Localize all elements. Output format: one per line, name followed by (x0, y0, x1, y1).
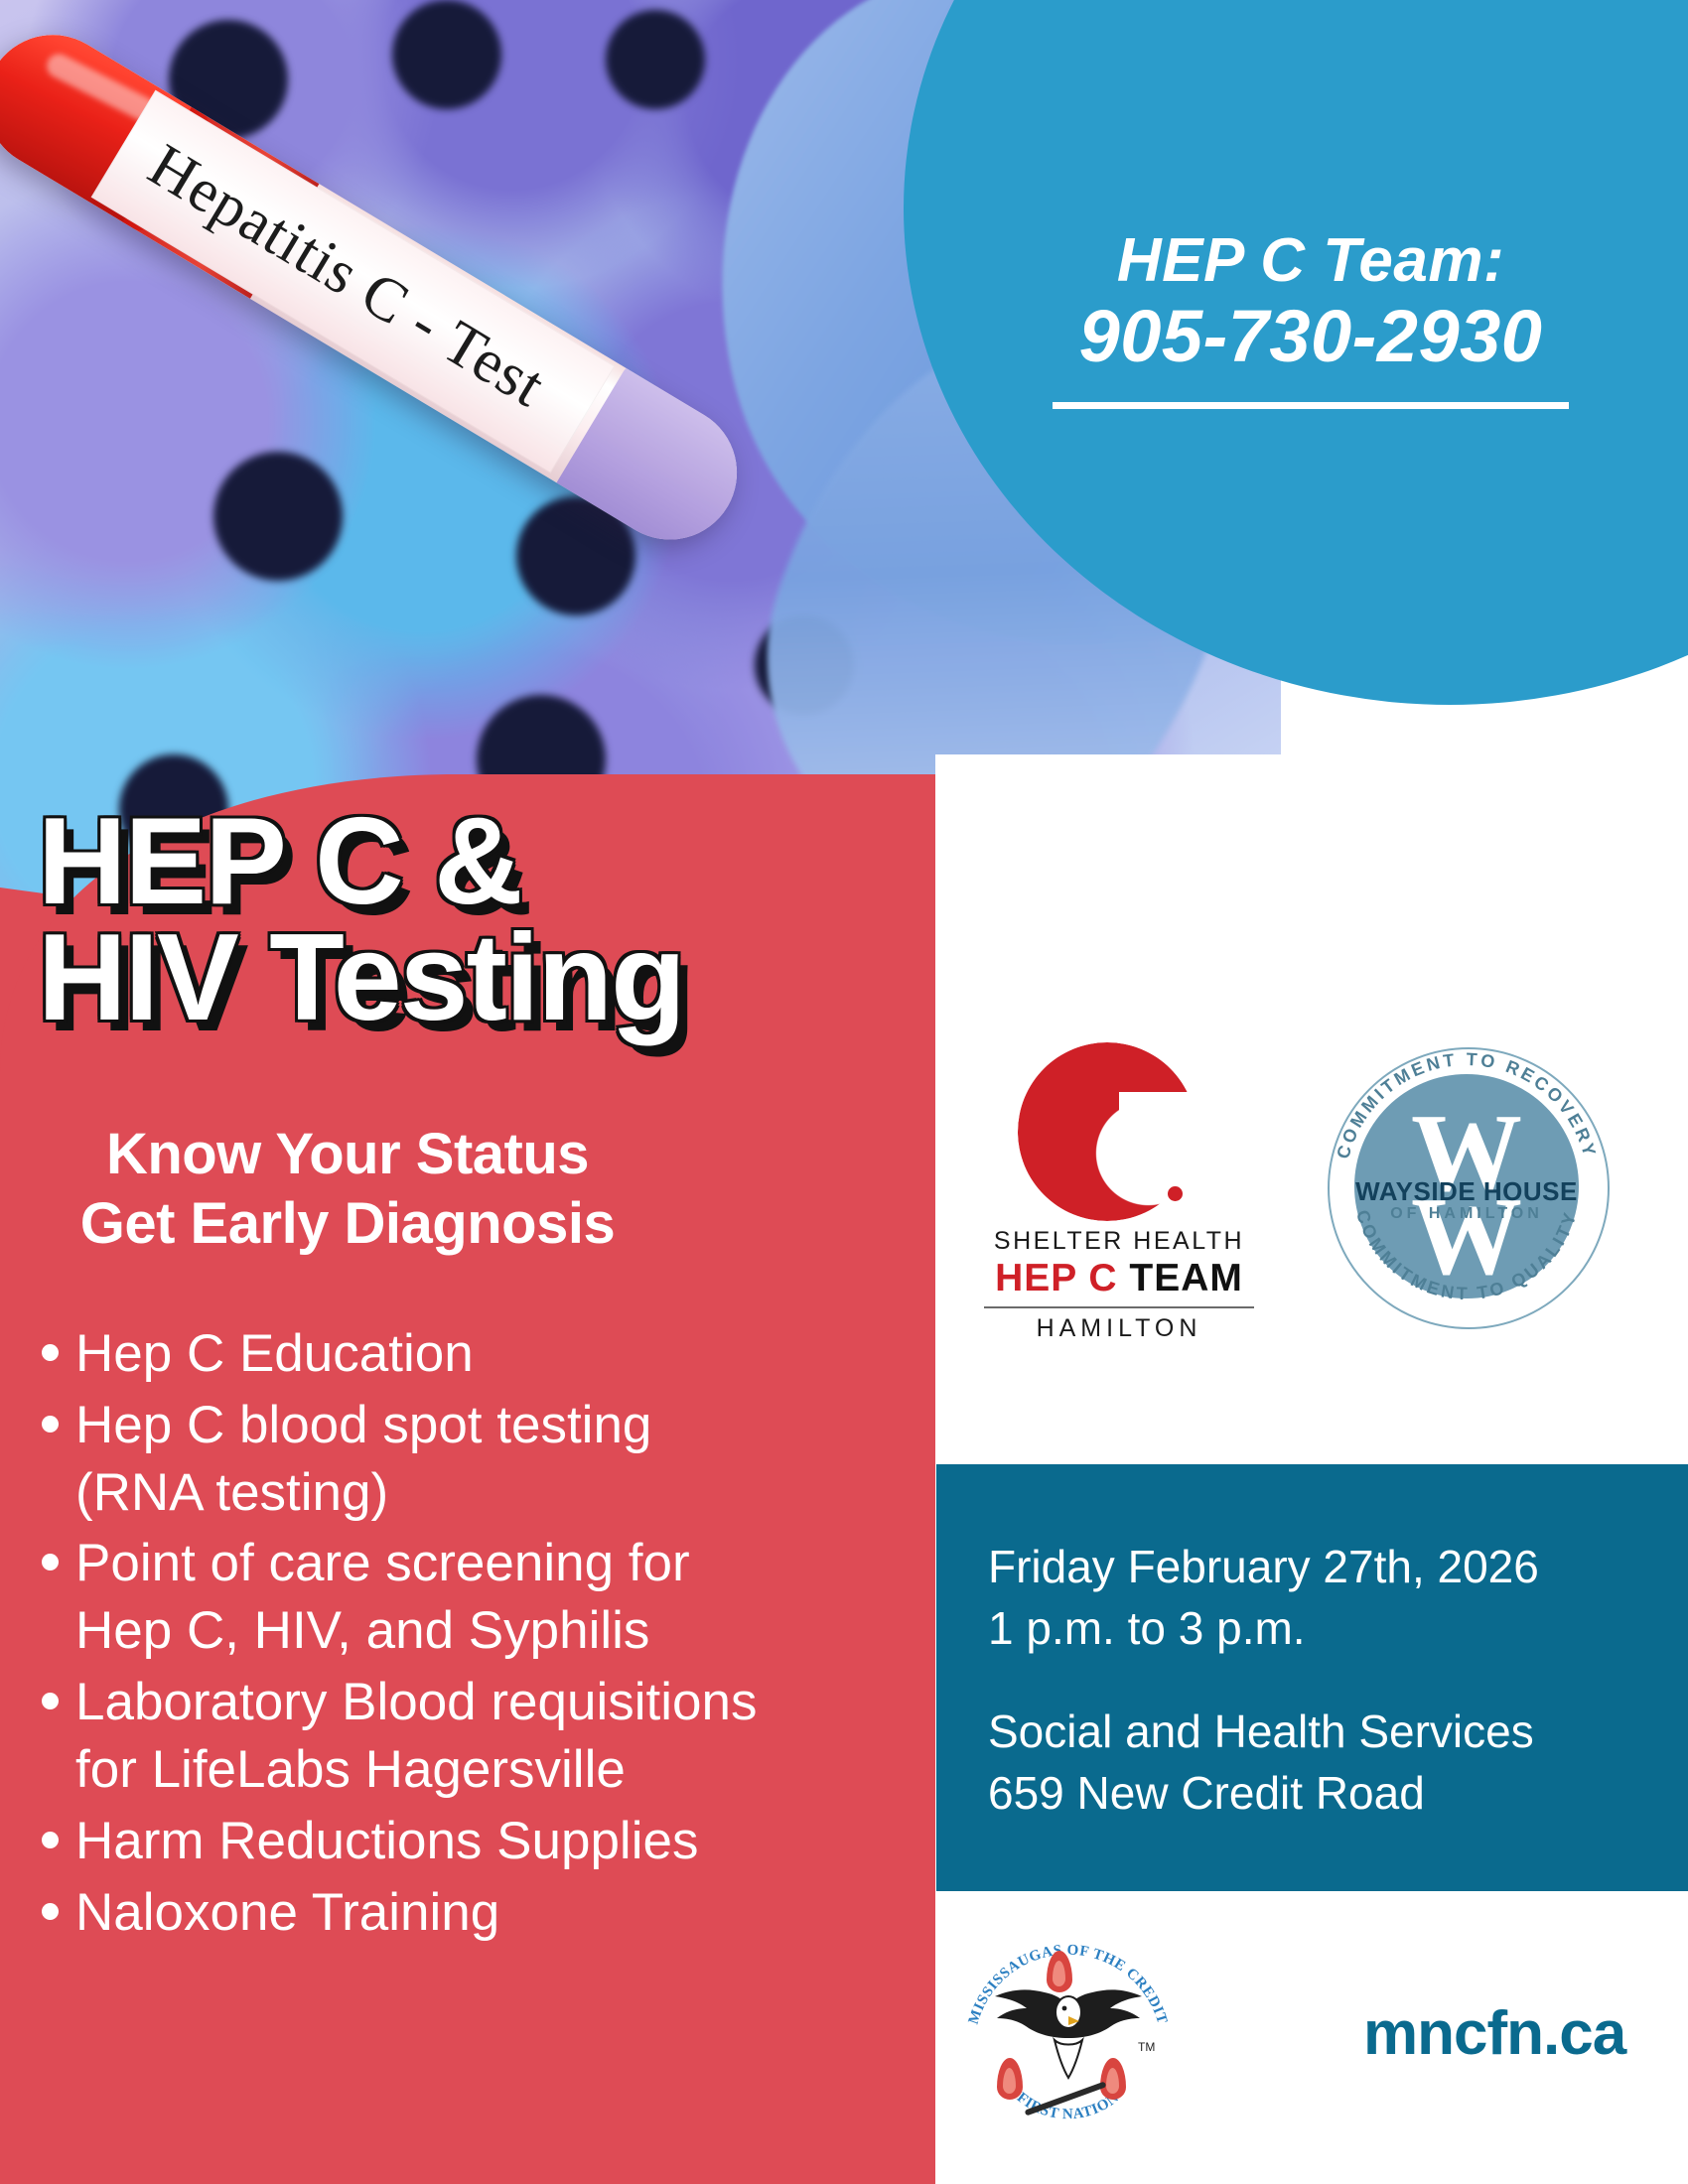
page-title: HEP C & HIV Testing (38, 804, 912, 1035)
list-item: Hep C Education (36, 1320, 929, 1388)
shelter-health-logo: SHELTER HEALTH HEP C TEAM HAMILTON (970, 1042, 1268, 1340)
wayside-arc-text: COMMITMENT TO RECOVERY COMMITMENT TO QUA… (1328, 1047, 1606, 1325)
hep-c-team-label: HEP C Team: (1023, 228, 1599, 295)
shelter-divider (984, 1306, 1254, 1308)
shelter-c-icon (1018, 1042, 1196, 1221)
subtitle-line-2: Get Early Diagnosis (0, 1189, 695, 1259)
mncfn-logo: MISSISSAUGAS OF THE CREDIT FIRST NATION … (961, 1921, 1175, 2149)
event-time: 1 p.m. to 3 p.m. (988, 1597, 1643, 1659)
shelter-team-text: TEAM (1129, 1257, 1243, 1299)
shelter-logo-line-1: SHELTER HEALTH (970, 1227, 1268, 1256)
title-line-1: HEP C & (38, 804, 912, 920)
footer-strip: MISSISSAUGAS OF THE CREDIT FIRST NATION … (936, 1891, 1688, 2184)
shelter-hepc-text: HEP C (995, 1257, 1118, 1299)
phone-underline (1053, 402, 1569, 409)
trademark-mark: TM (1138, 2040, 1155, 2054)
shelter-logo-line-2: HEP C TEAM (970, 1257, 1268, 1300)
list-item: Point of care screening for Hep C, HIV, … (36, 1530, 929, 1665)
wayside-arc-top: COMMITMENT TO RECOVERY (1333, 1049, 1600, 1161)
list-item: Harm Reductions Supplies (36, 1808, 929, 1875)
services-list: Hep C Education Hep C blood spot testing… (36, 1320, 929, 1950)
tube-label-text: Hepatitis C - Test (136, 131, 557, 422)
list-item: Hep C blood spot testing (RNA testing) (36, 1392, 929, 1527)
event-date: Friday February 27th, 2026 (988, 1536, 1643, 1597)
contact-block: HEP C Team: 905-730-2930 (1023, 228, 1599, 409)
tube-label: Hepatitis C - Test (91, 90, 616, 474)
list-item: Laboratory Blood requisitions for LifeLa… (36, 1669, 929, 1804)
event-address: 659 New Credit Road (988, 1762, 1643, 1824)
partner-logos: SHELTER HEALTH HEP C TEAM HAMILTON W W W… (935, 1032, 1688, 1360)
wayside-house-logo: W W WAYSIDE HOUSE OF HAMILTON COMMITMENT… (1303, 1023, 1630, 1350)
svg-text:COMMITMENT TO QUALITY: COMMITMENT TO QUALITY (1352, 1207, 1581, 1303)
event-details-box: Friday February 27th, 2026 1 p.m. to 3 p… (936, 1464, 1688, 1891)
wayside-arc-bottom: COMMITMENT TO QUALITY (1352, 1207, 1581, 1303)
shelter-logo-line-3: HAMILTON (970, 1314, 1268, 1343)
website-url[interactable]: mncfn.ca (1363, 1998, 1625, 2069)
hep-c-team-phone[interactable]: 905-730-2930 (1023, 297, 1599, 376)
subtitle-line-1: Know Your Status (0, 1120, 695, 1189)
svg-text:COMMITMENT TO RECOVERY: COMMITMENT TO RECOVERY (1333, 1049, 1600, 1161)
title-line-2: HIV Testing (38, 920, 912, 1036)
poster-canvas: Hepatitis C - Test HEP C Team: 905-730-2… (0, 0, 1688, 2184)
event-venue: Social and Health Services (988, 1701, 1643, 1762)
list-item: Naloxone Training (36, 1879, 929, 1947)
page-subtitle: Know Your Status Get Early Diagnosis (0, 1120, 695, 1258)
